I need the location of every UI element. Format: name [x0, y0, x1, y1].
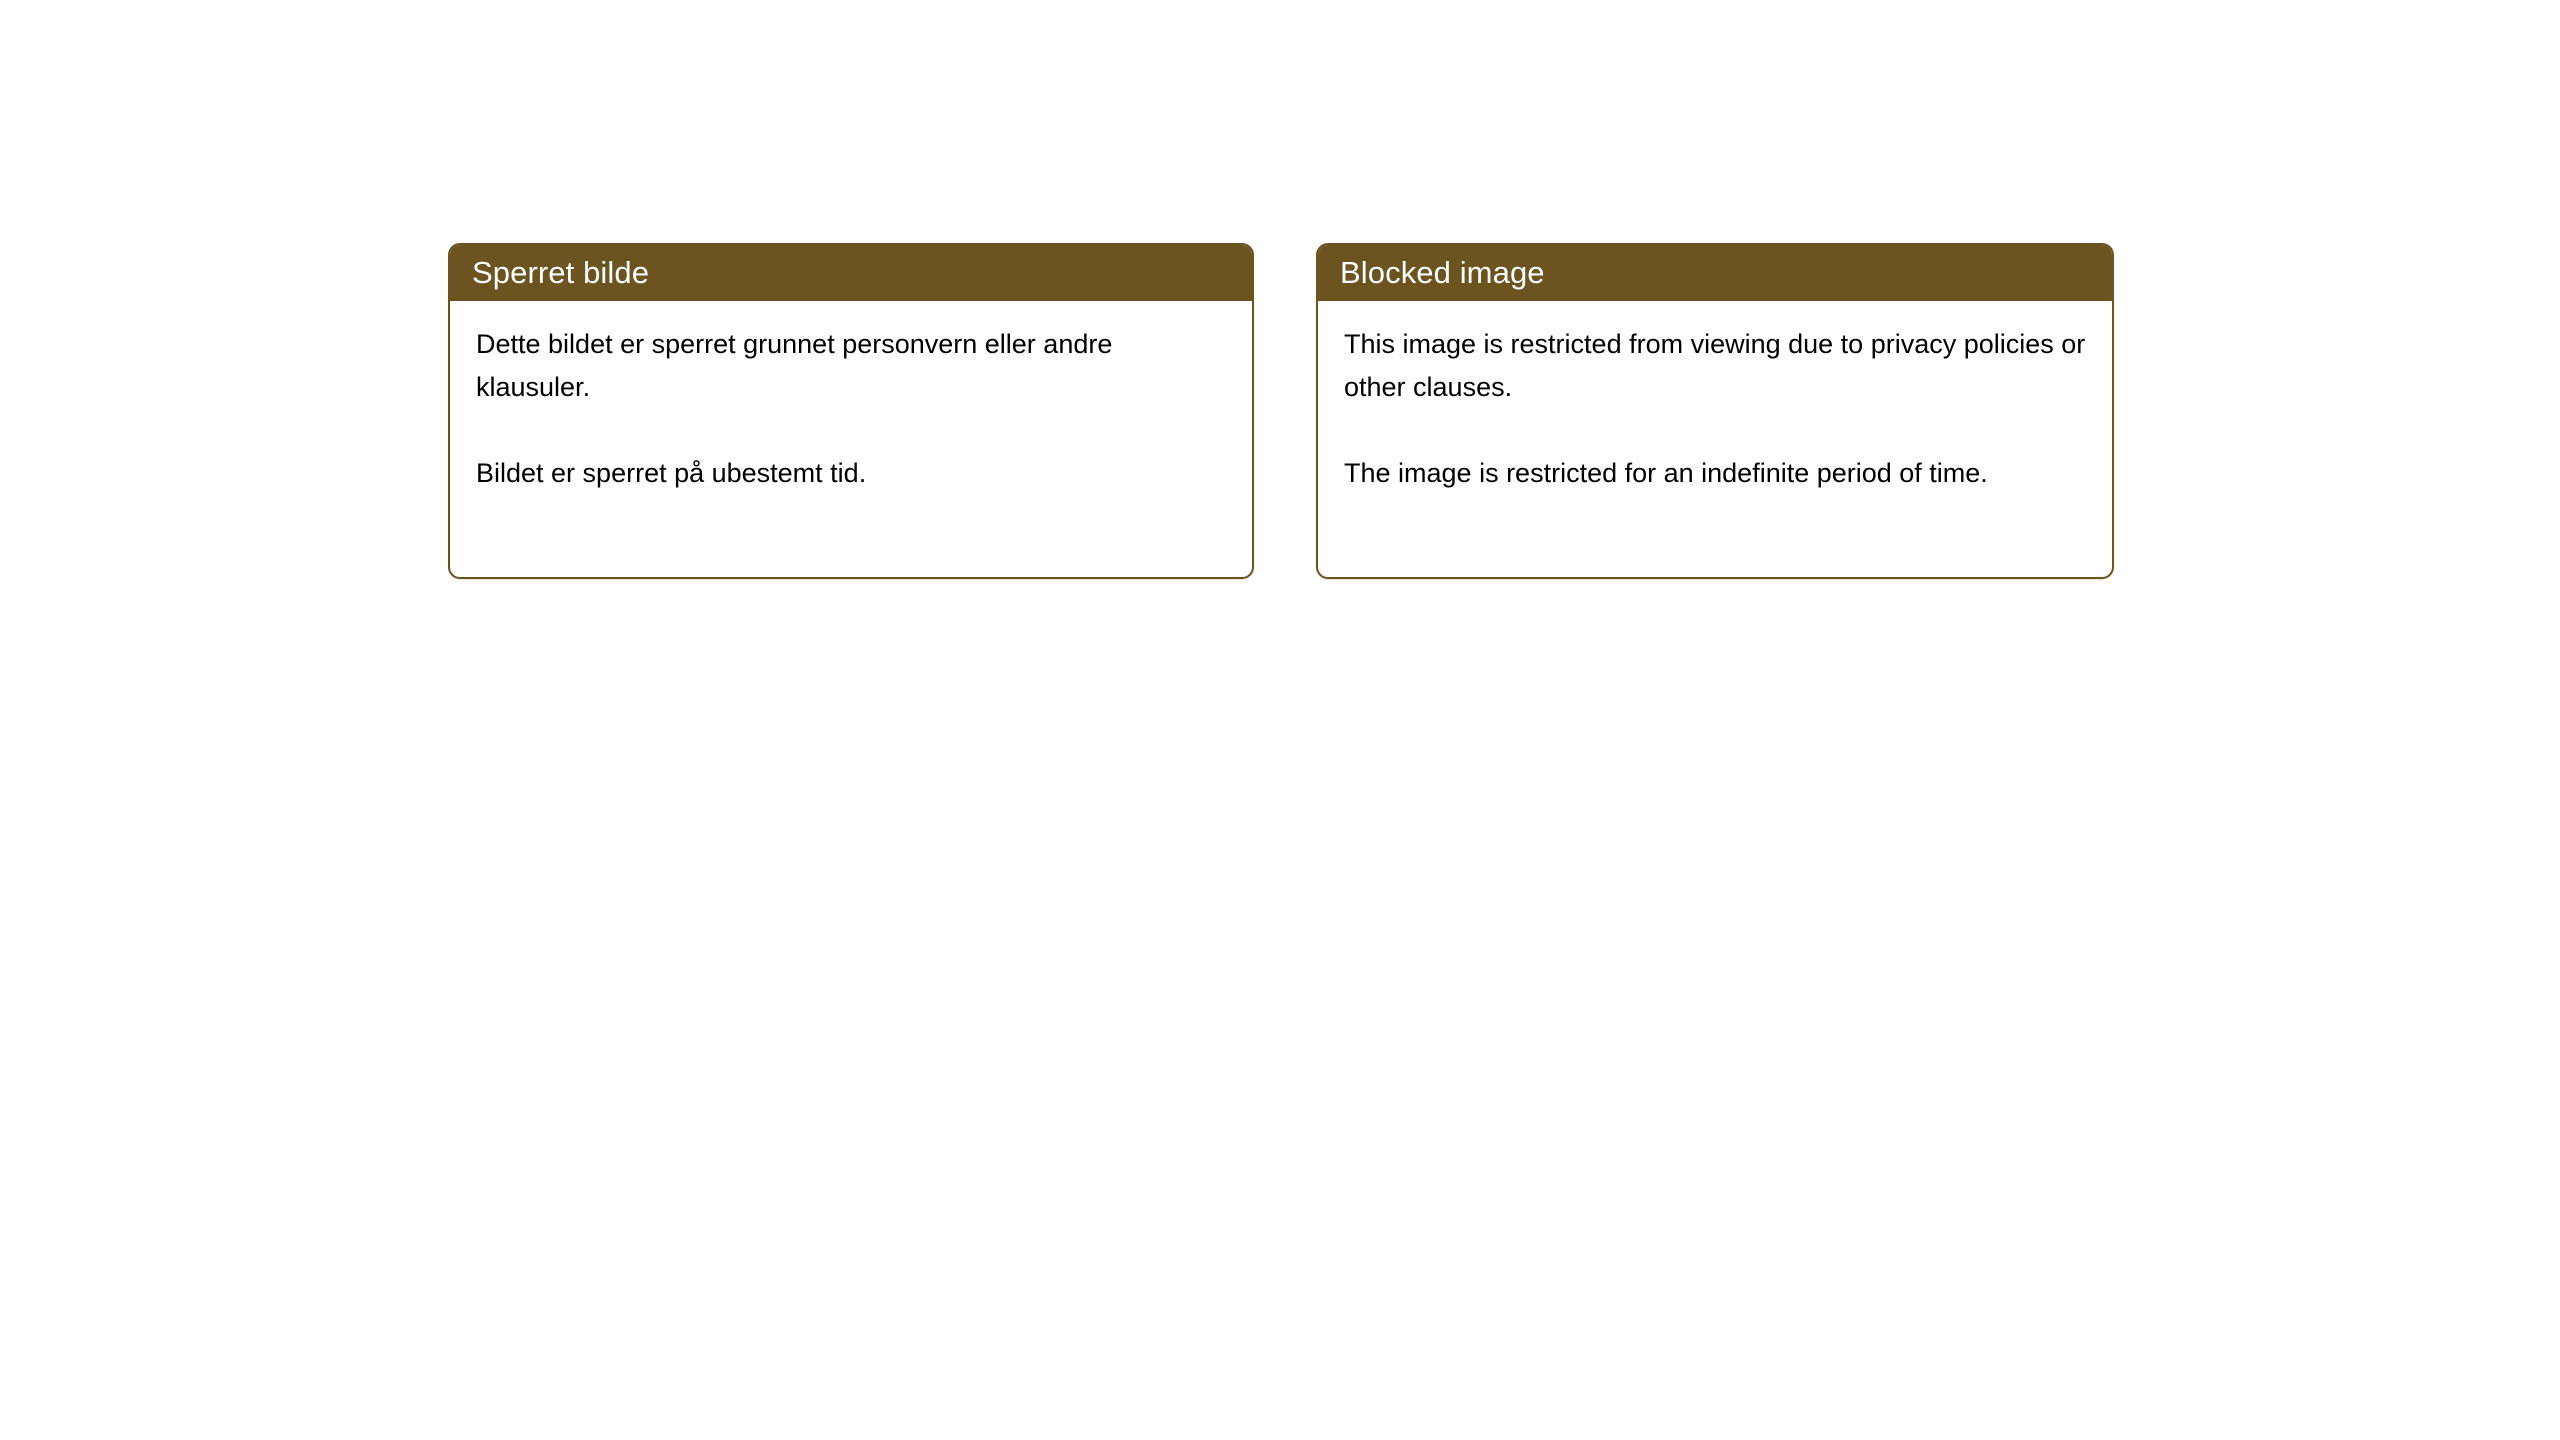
- card-paragraph-privacy-english: This image is restricted from viewing du…: [1344, 323, 2086, 409]
- card-paragraph-duration-english: The image is restricted for an indefinit…: [1344, 452, 2086, 495]
- card-title-english: Blocked image: [1340, 257, 1545, 288]
- blocked-image-notice-card-english: Blocked image This image is restricted f…: [1316, 243, 2114, 579]
- card-header-english: Blocked image: [1316, 243, 2114, 301]
- page-canvas: Sperret bilde Dette bildet er sperret gr…: [0, 0, 2560, 1440]
- card-body-english: This image is restricted from viewing du…: [1318, 301, 2112, 495]
- card-title-norwegian: Sperret bilde: [472, 257, 649, 288]
- card-paragraph-privacy-norwegian: Dette bildet er sperret grunnet personve…: [476, 323, 1226, 409]
- card-header-norwegian: Sperret bilde: [448, 243, 1254, 301]
- blocked-image-notice-card-norwegian: Sperret bilde Dette bildet er sperret gr…: [448, 243, 1254, 579]
- card-paragraph-duration-norwegian: Bildet er sperret på ubestemt tid.: [476, 452, 1226, 495]
- card-body-norwegian: Dette bildet er sperret grunnet personve…: [450, 301, 1252, 495]
